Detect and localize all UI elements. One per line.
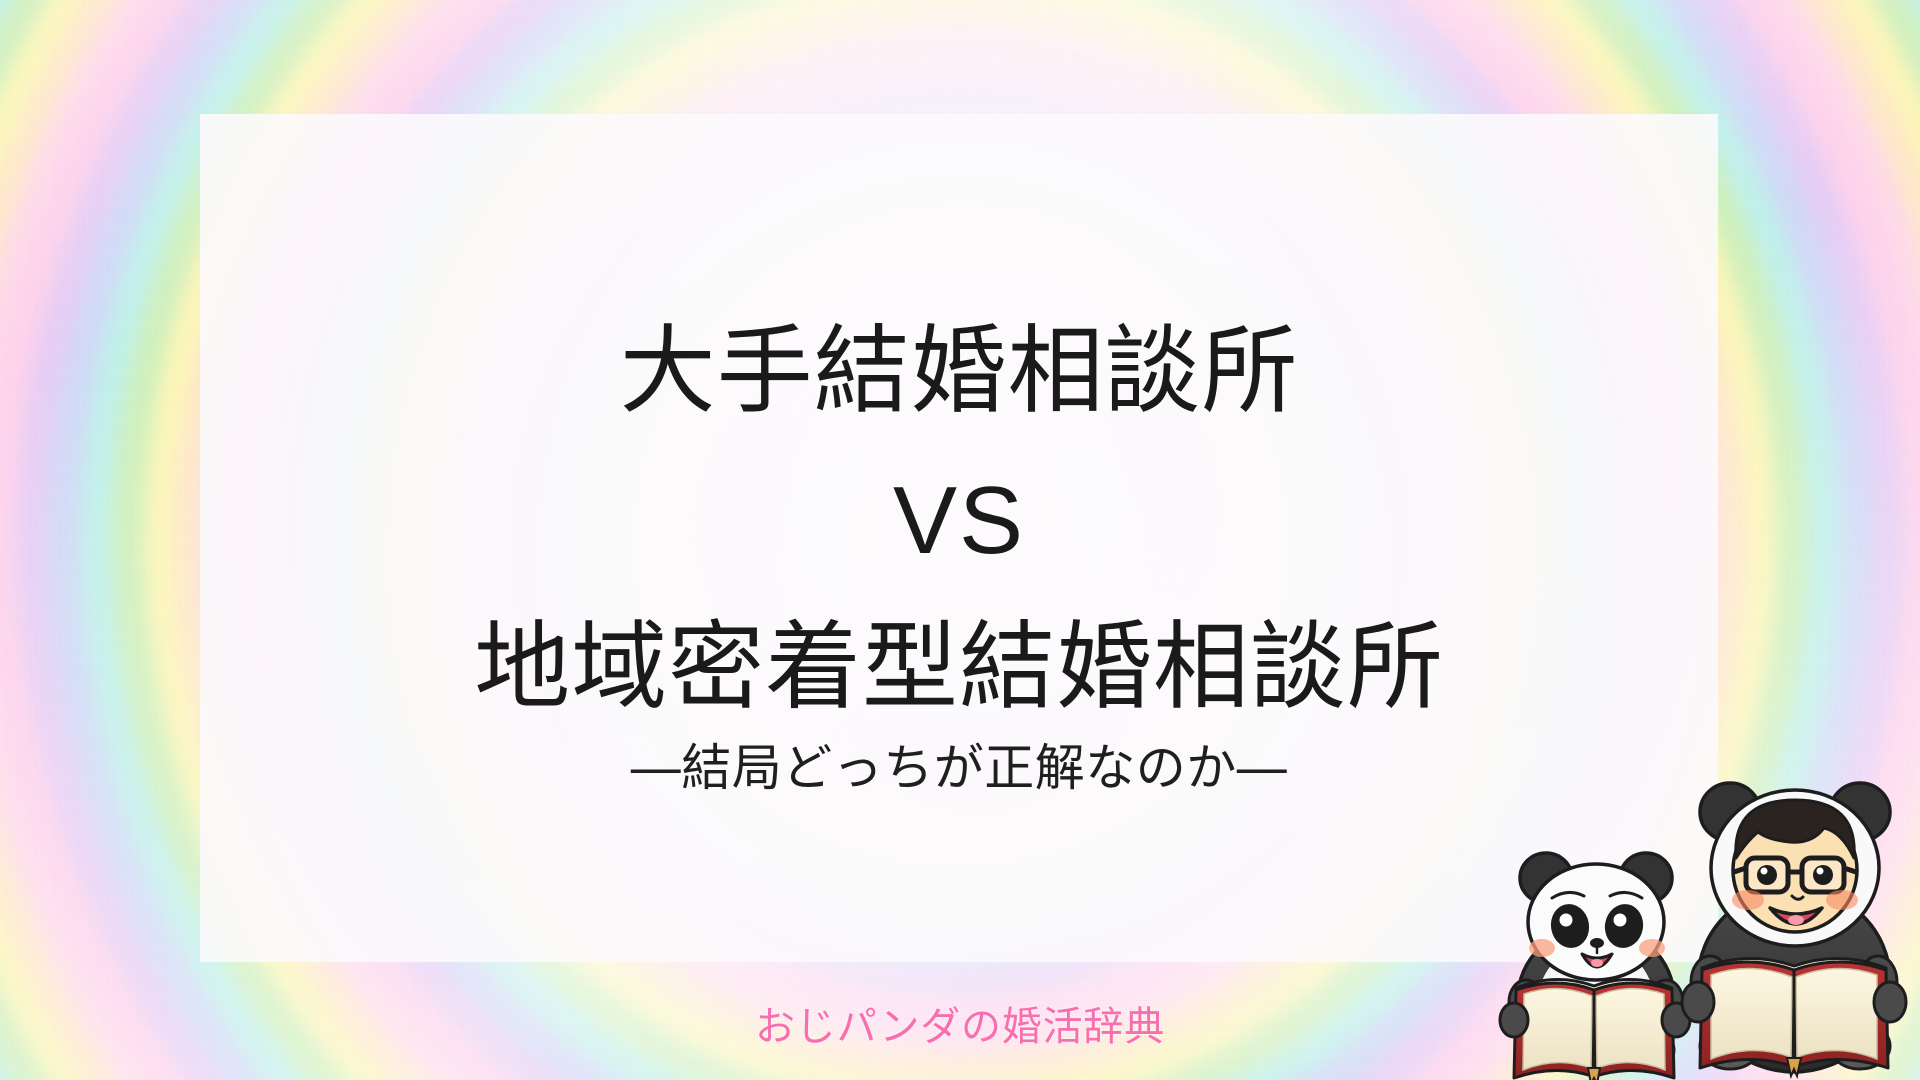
title-subtitle: ―結局どっちが正解なのか― (631, 728, 1288, 800)
site-name-label: おじパンダの婚活辞典 (0, 994, 1920, 1052)
title-card: 大手結婚相談所 VS 地域密着型結婚相談所 ―結局どっちが正解なのか― (200, 114, 1718, 962)
title-card-content: 大手結婚相談所 VS 地域密着型結婚相談所 ―結局どっちが正解なのか― (200, 114, 1718, 962)
versus-label: VS (893, 466, 1025, 576)
title-line-secondary: 地域密着型結婚相談所 (474, 616, 1444, 720)
thumbnail-canvas: 大手結婚相談所 VS 地域密着型結婚相談所 ―結局どっちが正解なのか― おじパン… (0, 0, 1920, 1080)
title-line-primary: 大手結婚相談所 (620, 320, 1299, 424)
